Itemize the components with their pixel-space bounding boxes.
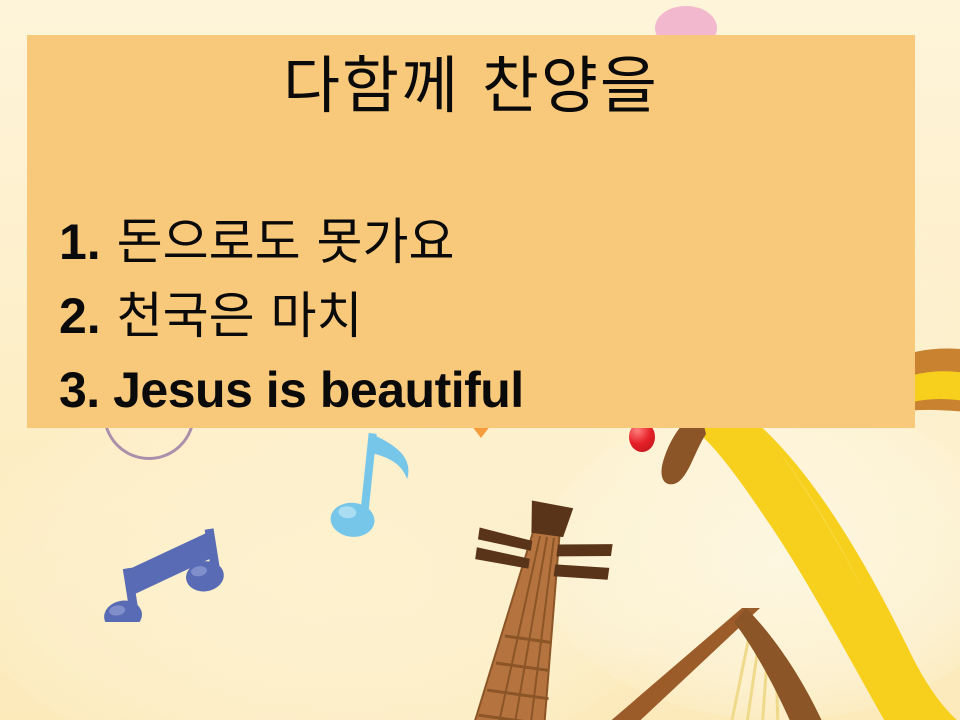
slide-title: 다함께 찬양을	[27, 35, 915, 120]
list-item-number: 3.	[59, 362, 100, 418]
list-item: 1. 돈으로도 못가요	[59, 205, 903, 279]
presentation-slide: 다함께 찬양을 1. 돈으로도 못가요 2. 천국은 마치 3. Jesus i…	[0, 0, 960, 720]
list-item-label: Jesus is beautiful	[113, 362, 524, 418]
harp-icon	[600, 590, 900, 720]
list-item-number: 1.	[59, 214, 101, 270]
list-item-label: 돈으로도 못가요	[117, 213, 455, 271]
list-item: 3. Jesus is beautiful	[59, 353, 903, 427]
list-item: 2. 천국은 마치	[59, 279, 903, 353]
song-list: 1. 돈으로도 못가요 2. 천국은 마치 3. Jesus is beauti…	[59, 205, 903, 427]
list-item-label: 천국은 마치	[117, 287, 363, 345]
content-panel: 다함께 찬양을 1. 돈으로도 못가요 2. 천국은 마치 3. Jesus i…	[27, 35, 915, 428]
list-item-number: 2.	[59, 288, 101, 344]
eighth-note-icon	[330, 428, 420, 548]
eighth-note-pair-icon	[98, 512, 238, 622]
